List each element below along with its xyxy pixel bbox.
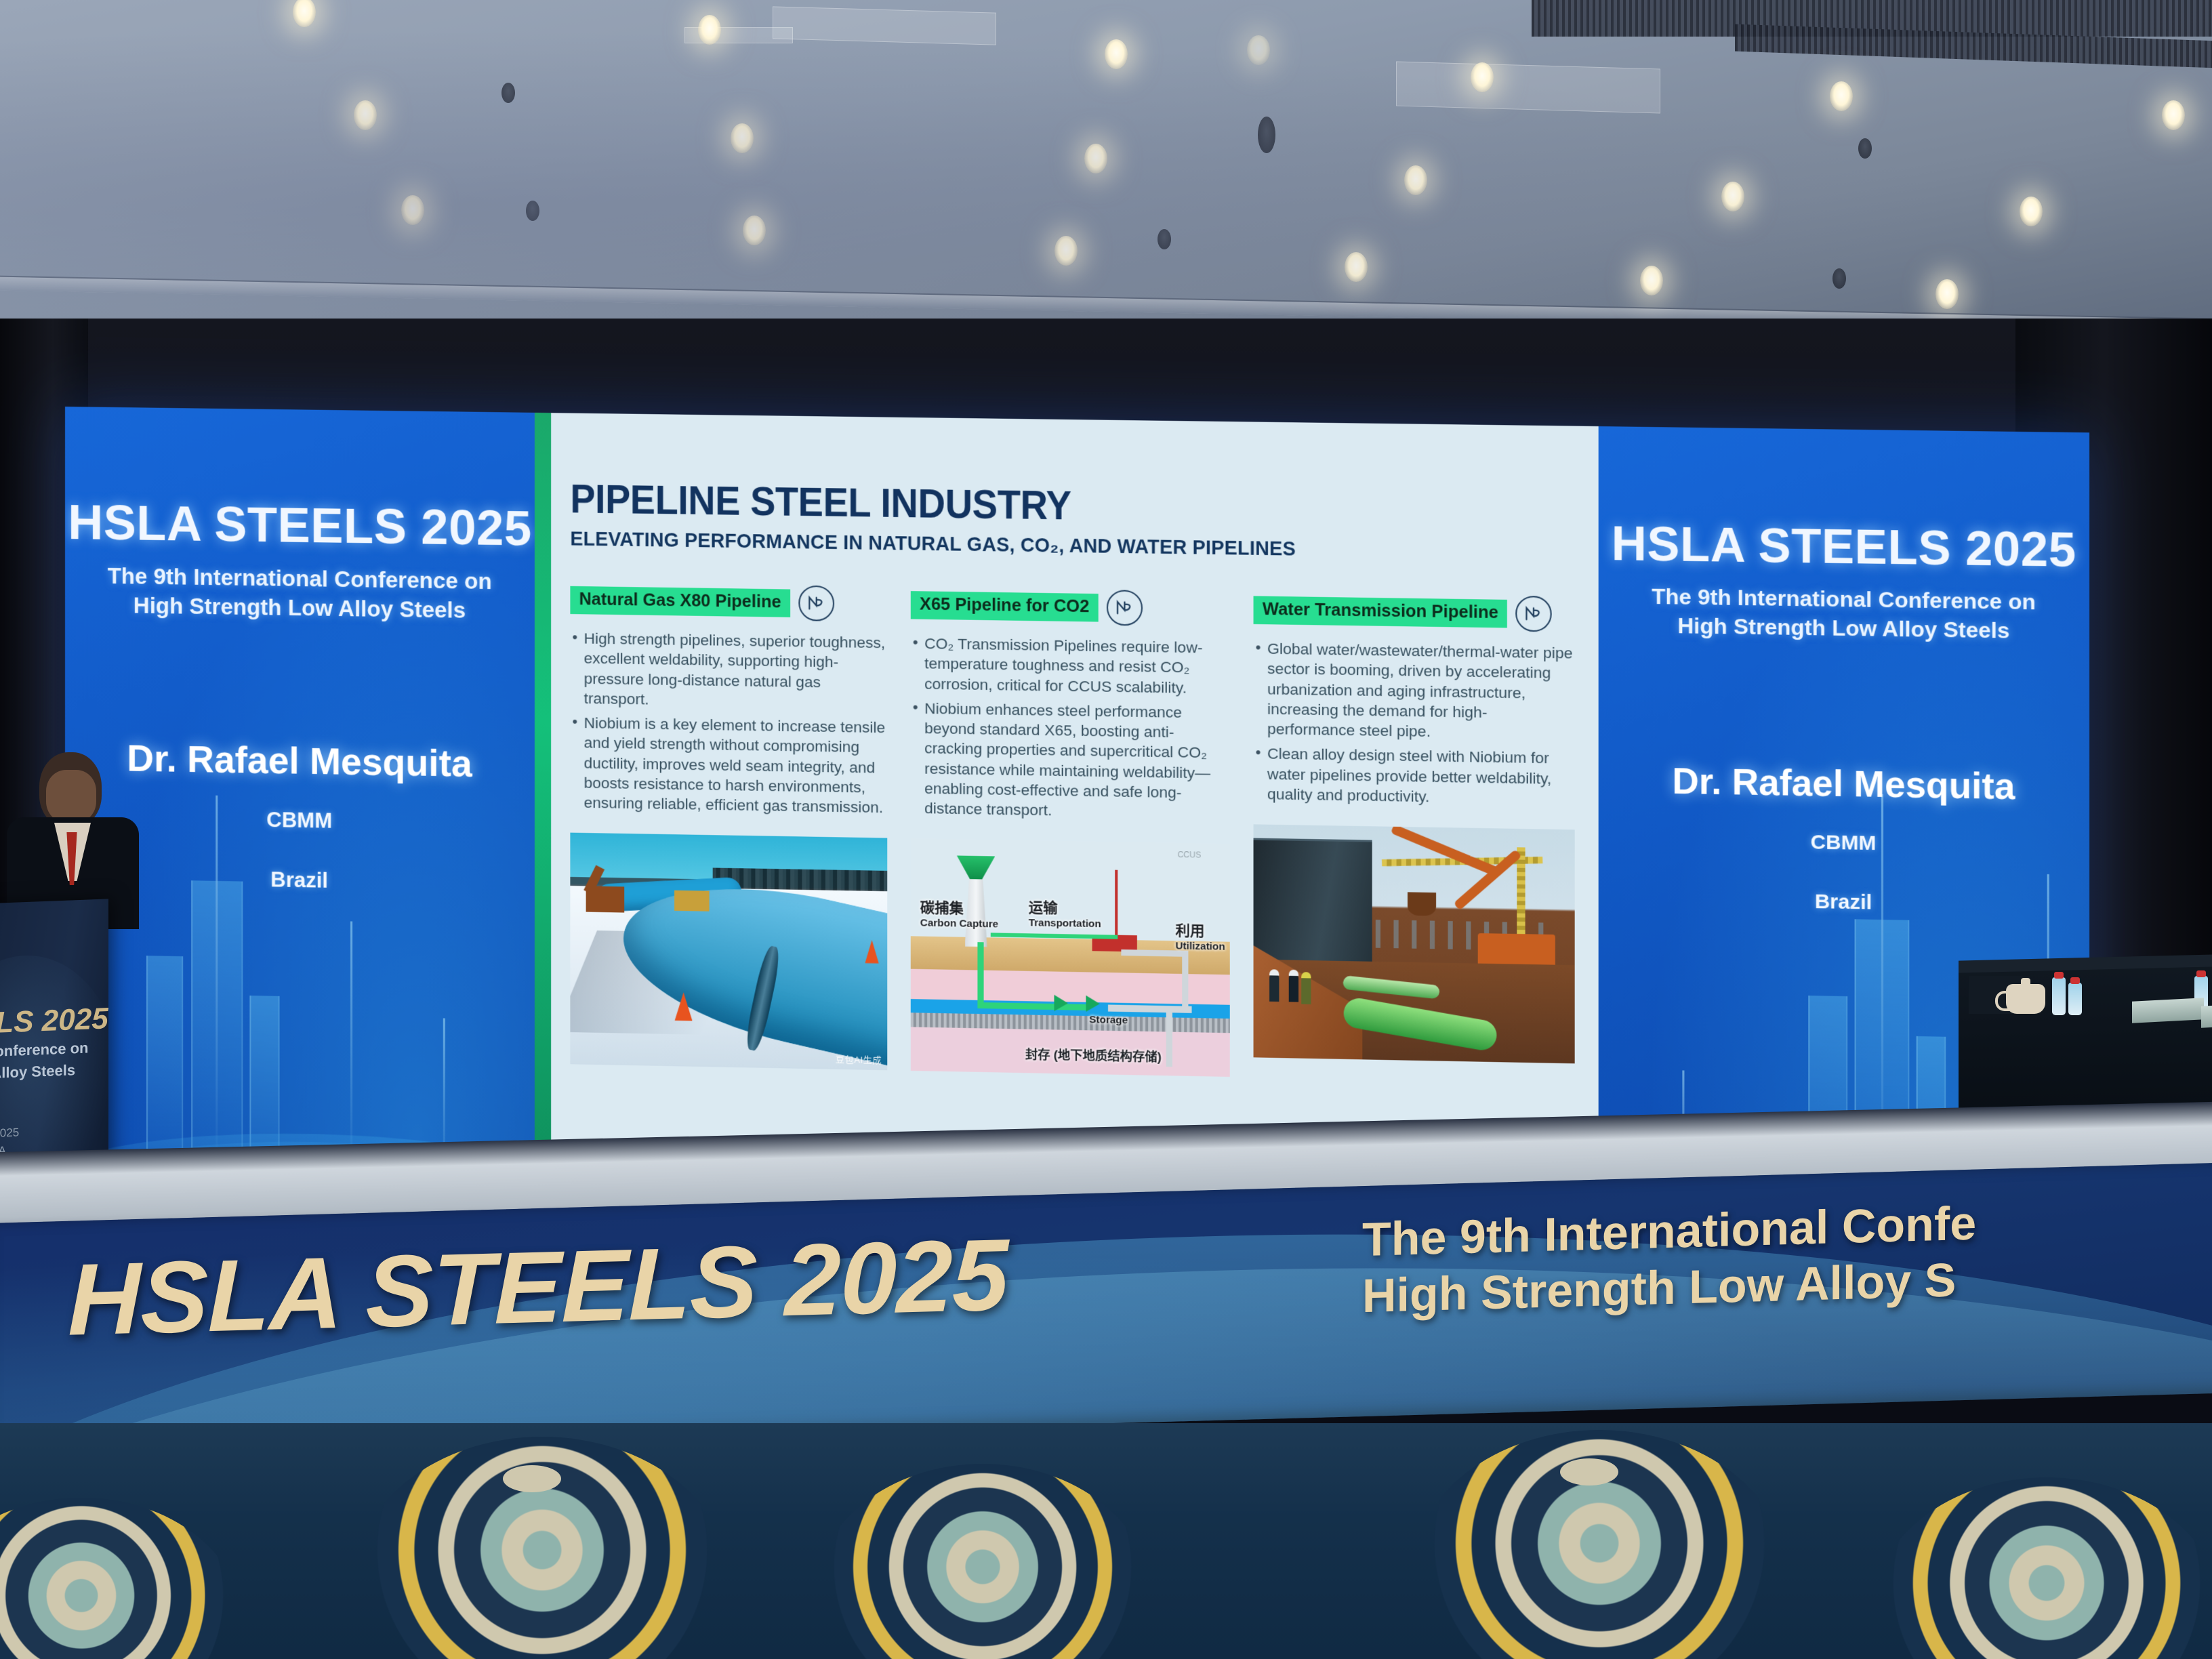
- photo-ccus-diagram: 碳捕集 Carbon Capture 运输 Transportation 利用 …: [911, 838, 1230, 1077]
- ceiling-grille: [1735, 24, 2212, 68]
- conference-hall-photo: HSLA STEELS 2025 The 9th International C…: [0, 0, 2212, 1659]
- column-header: Natural Gas X80 Pipeline: [570, 582, 887, 622]
- nb-logo-icon: [1107, 590, 1143, 626]
- bullet-item: Niobium is a key element to increase ten…: [570, 713, 887, 818]
- podium-title-text: ELS 2025: [0, 1002, 108, 1041]
- nb-logo-icon: [798, 586, 834, 621]
- ceiling-downlight: [698, 15, 721, 45]
- ceiling-downlight: [2020, 197, 2043, 226]
- column-header: Water Transmission Pipeline: [1254, 592, 1575, 632]
- diagram-label-transportation: 运输 Transportation: [1029, 897, 1101, 930]
- ceiling-sprinkler-icon: [526, 201, 539, 221]
- ceiling-downlight: [2162, 100, 2185, 130]
- ceiling-vent: [684, 27, 793, 43]
- column-x65-co2: X65 Pipeline for CO2 CO₂ Transmission Pi…: [911, 587, 1230, 1077]
- speaker-country: Brazil: [270, 867, 328, 893]
- speaker-country: Brazil: [1815, 890, 1872, 915]
- ceiling-downlight: [354, 100, 377, 130]
- slide-content: PIPELINE STEEL INDUSTRY ELEVATING PERFOR…: [535, 413, 1599, 1204]
- led-presentation-screen: HSLA STEELS 2025 The 9th International C…: [65, 407, 2089, 1214]
- ceiling-downlight: [1830, 81, 1853, 111]
- bullet-item: Clean alloy design steel with Niobium fo…: [1254, 743, 1575, 809]
- column-badge-label: X65 Pipeline for CO2: [911, 591, 1099, 621]
- column-header: X65 Pipeline for CO2: [911, 587, 1230, 627]
- ceiling: [0, 0, 2212, 339]
- venue-carpet: [0, 1423, 2212, 1659]
- teapot: [2006, 984, 2045, 1014]
- water-bottle: [2068, 983, 2082, 1015]
- ceiling-sprinkler-icon: [501, 83, 515, 103]
- ceiling-downlight: [1640, 266, 1663, 295]
- bullet-item: Global water/wastewater/thermal-water pi…: [1254, 638, 1575, 743]
- ceiling-downlight: [743, 216, 766, 245]
- slide-title: PIPELINE STEEL INDUSTRY: [570, 478, 1494, 532]
- column-natural-gas-x80: Natural Gas X80 Pipeline High strength p…: [570, 582, 887, 1071]
- ceiling-speaker-icon: [1258, 117, 1275, 153]
- conference-title: HSLA STEELS 2025: [1612, 516, 2076, 577]
- conference-subtitle-line1: The 9th International Conference on: [84, 561, 516, 596]
- column-water-transmission: Water Transmission Pipeline Global water…: [1254, 592, 1575, 1084]
- podium-date-text: – 4 2025: [0, 1126, 19, 1141]
- bullet-list: Global water/wastewater/thermal-water pi…: [1254, 638, 1575, 809]
- image-watermark: 豆包AI生成: [836, 1052, 882, 1066]
- bullet-item: Niobium enhances steel performance beyon…: [911, 698, 1230, 823]
- ceiling-downlight: [293, 0, 316, 27]
- ceiling-downlight: [1247, 35, 1270, 65]
- diagram-label-storage: 封存 (地下地质结构存储): [1025, 1045, 1162, 1065]
- speaker-name: Dr. Rafael Mesquita: [1672, 760, 2015, 808]
- ceiling-downlight: [401, 195, 424, 225]
- bullet-item: High strength pipelines, superior toughn…: [570, 628, 887, 713]
- diagram-label-storage-en: Storage: [1089, 1014, 1128, 1026]
- banner-conference-subtitle: The 9th International Confe High Strengt…: [1362, 1195, 1976, 1324]
- diagram-label-utilization: 利用 Utilization: [1175, 920, 1225, 953]
- ceiling-vent: [1396, 62, 1660, 114]
- ceiling-sprinkler-icon: [1158, 229, 1171, 249]
- carpet-medallion: [1870, 1477, 2212, 1659]
- conference-subtitle-line1: The 9th International Conference on: [1613, 582, 2074, 617]
- conference-subtitle-line2: High Strength Low Alloy Steels: [1613, 611, 2074, 645]
- nb-logo-icon: [1516, 596, 1552, 632]
- bullet-item: CO₂ Transmission Pipelines require low-t…: [911, 634, 1230, 699]
- carpet-medallion: [813, 1464, 1152, 1659]
- table-name-card: [2201, 1002, 2212, 1028]
- ceiling-sprinkler-icon: [1858, 138, 1872, 159]
- diagram-corner-mark: CCUS: [1177, 850, 1201, 860]
- ceiling-downlight: [731, 123, 754, 153]
- conference-subtitle-line2: High Strength Low Alloy Steels: [84, 591, 516, 626]
- ceiling-downlight: [1084, 144, 1107, 173]
- photo-pipeline-in-snow: 豆包AI生成: [570, 833, 887, 1071]
- speaker-name: Dr. Rafael Mesquita: [127, 736, 472, 785]
- bullet-list: CO₂ Transmission Pipelines require low-t…: [911, 634, 1230, 823]
- ceiling-downlight: [1471, 62, 1494, 92]
- ceiling-downlight: [1404, 165, 1427, 195]
- speaker-at-podium: [7, 752, 139, 922]
- diagram-label-carbon-capture: 碳捕集 Carbon Capture: [920, 897, 998, 930]
- ceiling-grille: [1532, 0, 2212, 37]
- photo-water-pipeline-construction: [1254, 824, 1575, 1063]
- column-badge-label: Water Transmission Pipeline: [1254, 596, 1508, 628]
- carpet-medallion: [0, 1498, 244, 1659]
- ceiling-downlight: [1105, 39, 1128, 69]
- slide-three-column-layout: Natural Gas X80 Pipeline High strength p…: [570, 582, 1574, 1084]
- slide-subtitle: ELEVATING PERFORMANCE IN NATURAL GAS, CO…: [570, 527, 1514, 564]
- speaker-organization: CBMM: [1811, 831, 1877, 855]
- ceiling-downlight: [1935, 279, 1959, 309]
- ceiling-vent: [773, 6, 996, 45]
- speaker-face: [46, 770, 96, 823]
- bullet-list: High strength pipelines, superior toughn…: [570, 628, 887, 817]
- ceiling-downlight: [1721, 182, 1744, 211]
- ceiling-sprinkler-icon: [1832, 268, 1846, 289]
- table-name-card: [2132, 998, 2204, 1023]
- slide-green-accent-bar: [535, 413, 551, 1183]
- ceiling-downlight: [1054, 236, 1078, 266]
- conference-title: HSLA STEELS 2025: [68, 495, 531, 557]
- ceiling-downlight: [1345, 252, 1368, 282]
- water-bottle: [2052, 977, 2066, 1015]
- speaker-organization: CBMM: [266, 807, 332, 833]
- column-badge-label: Natural Gas X80 Pipeline: [570, 586, 790, 617]
